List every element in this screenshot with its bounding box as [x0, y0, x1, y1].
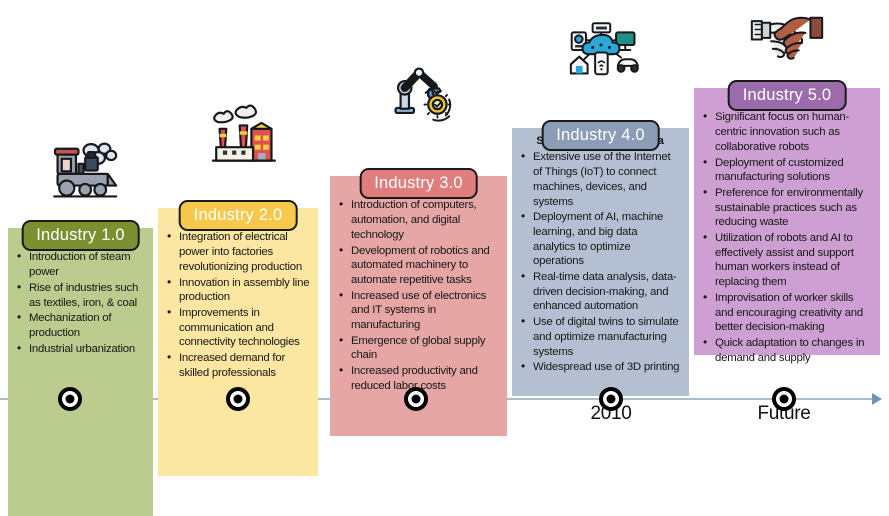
- bullet-list-industry-2: Integration of electrical power into fac…: [165, 230, 310, 380]
- list-item: Industrial urbanization: [15, 342, 145, 357]
- bullet-list-industry-3: Introduction of computers, automation, a…: [337, 198, 499, 393]
- bullet-list-industry-4: Extensive use of the Internet of Things …: [519, 150, 681, 375]
- timeline-arrow-icon: [872, 393, 882, 405]
- bullet-list-industry-5: Significant focus on human-centric innov…: [701, 110, 872, 365]
- list-item: Mechanization of production: [15, 311, 145, 340]
- timeline-marker-1870[interactable]: [226, 387, 250, 411]
- list-item: Use of digital twins to simulate and opt…: [519, 315, 681, 359]
- list-item: Introduction of steam power: [15, 250, 145, 279]
- list-item: Increased use of electronics and IT syst…: [337, 289, 499, 333]
- list-item: Emergence of global supply chain: [337, 334, 499, 363]
- panel-industry-5: Human-centric Era Significant focus on h…: [694, 88, 880, 355]
- panel-industry-2: Technological Era Integration of electri…: [158, 208, 318, 476]
- steam-locomotive-icon: [38, 132, 124, 204]
- list-item: Significant focus on human-centric innov…: [701, 110, 872, 154]
- badge-industry-5[interactable]: Industry 5.0: [728, 80, 847, 111]
- robot-arm-gear-icon: [376, 56, 462, 128]
- badge-industry-1[interactable]: Industry 1.0: [21, 220, 140, 251]
- panel-industry-1: Steam Engine Era Introduction of steam p…: [8, 228, 153, 516]
- list-item: Real-time data analysis, data-driven dec…: [519, 270, 681, 314]
- list-item: Preference for environmentally sustainab…: [701, 186, 872, 230]
- list-item: Introduction of computers, automation, a…: [337, 198, 499, 242]
- panel-industry-4: Smart Manufacturing Era Extensive use of…: [512, 128, 689, 396]
- list-item: Integration of electrical power into fac…: [165, 230, 310, 274]
- list-item: Innovation in assembly line production: [165, 276, 310, 305]
- list-item: Development of robotics and automated ma…: [337, 244, 499, 288]
- timeline-infographic: Industry 1.0 Steam Engine Era Introducti…: [0, 0, 889, 434]
- list-item: Widespread use of 3D printing: [519, 360, 681, 375]
- list-item: Deployment of customized manufacturing s…: [701, 156, 872, 185]
- badge-industry-3[interactable]: Industry 3.0: [359, 168, 478, 199]
- bullet-list-industry-1: Introduction of steam power Rise of indu…: [15, 250, 145, 356]
- badge-industry-2[interactable]: Industry 2.0: [179, 200, 298, 231]
- list-item: Utilization of robots and AI to effectiv…: [701, 231, 872, 290]
- timeline-marker-2010[interactable]: [599, 387, 623, 411]
- timeline-marker-future[interactable]: [772, 387, 796, 411]
- list-item: Deployment of AI, machine learning, and …: [519, 210, 681, 269]
- robot-human-handshake-icon: [744, 0, 830, 68]
- list-item: Rise of industries such as textiles, iro…: [15, 281, 145, 310]
- iot-cloud-network-icon: [558, 14, 644, 86]
- list-item: Extensive use of the Internet of Things …: [519, 150, 681, 209]
- timeline-marker-1969[interactable]: [404, 387, 428, 411]
- badge-industry-4[interactable]: Industry 4.0: [541, 120, 660, 151]
- timeline-marker-1784[interactable]: [58, 387, 82, 411]
- factory-icon: [195, 102, 281, 174]
- list-item: Improvements in communication and connec…: [165, 306, 310, 350]
- list-item: Quick adaptation to changes in demand an…: [701, 336, 872, 365]
- list-item: Improvisation of worker skills and encou…: [701, 291, 872, 335]
- list-item: Increased demand for skilled professiona…: [165, 351, 310, 380]
